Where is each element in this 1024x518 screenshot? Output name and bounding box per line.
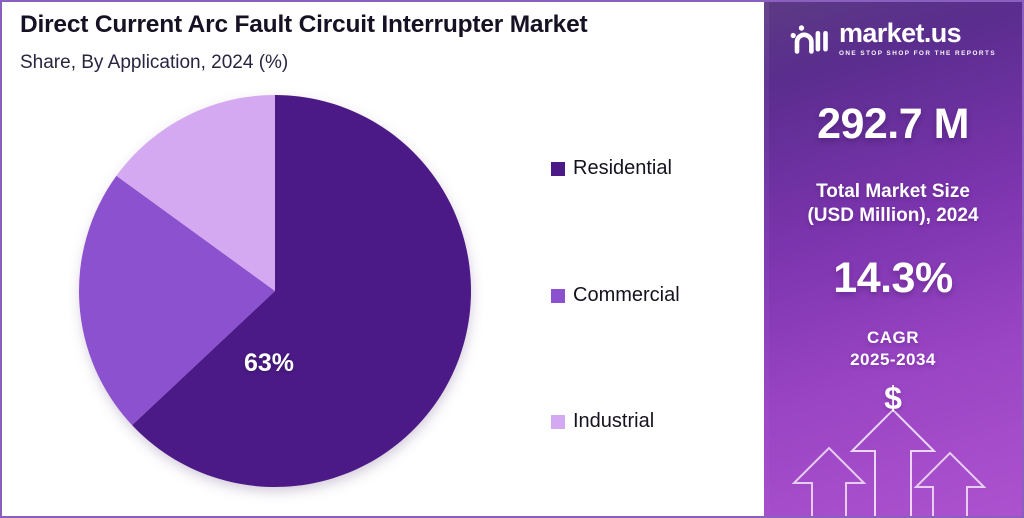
logo-text: market.us ONE STOP SHOP FOR THE REPORTS [839, 20, 996, 57]
legend-swatch-commercial [551, 289, 565, 303]
page-title: Direct Current Arc Fault Circuit Interru… [20, 11, 587, 39]
legend-item-industrial[interactable]: Industrial [551, 410, 654, 433]
growth-arrows-graphic: $ [764, 386, 1022, 516]
arrow-up-middle-icon [852, 410, 934, 516]
market-size-value: 292.7 M [764, 100, 1022, 149]
legend-swatch-residential [551, 162, 565, 176]
dollar-sign-icon: $ [764, 382, 1022, 414]
page-subtitle: Share, By Application, 2024 (%) [20, 52, 288, 74]
infographic-canvas: Direct Current Arc Fault Circuit Interru… [0, 0, 1024, 518]
market-size-caption-line2: (USD Million), 2024 [764, 204, 1022, 228]
cagr-caption-line2: 2025-2034 [764, 349, 1022, 371]
brand-logo[interactable]: market.us ONE STOP SHOP FOR THE REPORTS [764, 20, 1022, 57]
cagr-caption: CAGR 2025-2034 [764, 327, 1022, 371]
cagr-caption-line1: CAGR [764, 327, 1022, 349]
market-us-logo-icon [790, 23, 830, 54]
pie-chart: 63% [78, 94, 472, 488]
cagr-value: 14.3% [764, 254, 1022, 303]
arrow-up-right-icon [916, 453, 984, 516]
logo-tagline: ONE STOP SHOP FOR THE REPORTS [839, 51, 996, 57]
chart-area: Direct Current Arc Fault Circuit Interru… [2, 2, 764, 516]
legend-item-commercial[interactable]: Commercial [551, 284, 680, 307]
arrow-up-left-icon [794, 448, 864, 516]
legend-label-commercial: Commercial [573, 284, 680, 307]
legend-label-residential: Residential [573, 157, 672, 180]
legend-label-industrial: Industrial [573, 410, 654, 433]
legend-item-residential[interactable]: Residential [551, 157, 672, 180]
legend-swatch-industrial [551, 415, 565, 429]
stats-side-panel: market.us ONE STOP SHOP FOR THE REPORTS … [764, 2, 1022, 516]
market-size-caption-line1: Total Market Size [764, 180, 1022, 204]
market-size-caption: Total Market Size (USD Million), 2024 [764, 180, 1022, 229]
logo-wordmark: market.us [839, 20, 961, 47]
pie-svg [78, 94, 472, 488]
